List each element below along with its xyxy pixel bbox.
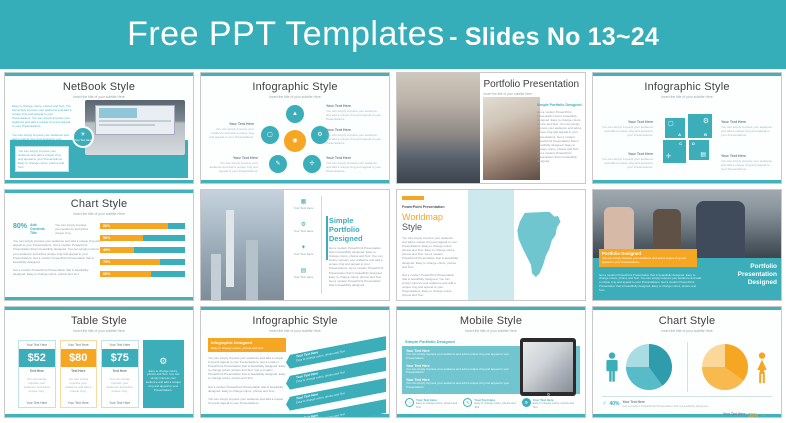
book-icon: ▢: [267, 132, 273, 138]
legend-percent-0: 40%: [610, 401, 620, 407]
netbook-callout-text: You can simply impress your audience and…: [18, 149, 66, 169]
chart-body-2: Get a modern PowerPoint Presentation tha…: [13, 268, 101, 276]
slide-subtitle: Insert the title of your subtitle Here: [598, 329, 776, 334]
worldmap-body-2: Get a modern PowerPoint Presentation tha…: [402, 273, 458, 298]
arrows-body-1: You can simply impress your audience and…: [208, 356, 286, 381]
slide-title: Infographic Style: [206, 315, 384, 327]
mobile-footer-item-0[interactable]: ○ Your Text Here Easy to change colors, …: [405, 398, 460, 410]
worldmap-eyebrow: PowerPoint Presentation: [402, 205, 458, 209]
mobile-row-text-1: You can simply impress your audience and…: [406, 368, 527, 376]
slide-top-accent-bar: [593, 307, 781, 310]
slide-thumbnail-chart-bars[interactable]: Chart Style Insert the title of your sub…: [4, 189, 194, 301]
infographic-node-3[interactable]: ✎: [269, 155, 287, 173]
slide-title: Chart Style: [10, 198, 188, 210]
infographic-node-0[interactable]: ▲: [286, 105, 304, 123]
slide-subtitle: Insert the title of your subtitle Here: [598, 95, 776, 100]
tablet-device: [520, 338, 576, 396]
globe-icon: ◉: [292, 138, 297, 144]
mobile-footer-item-2[interactable]: ⚙ Your Text Here Easy to change colors, …: [522, 398, 577, 410]
slide-title: Portfolio Presentation: [483, 79, 582, 90]
slide-thumbnail-infographic-squares[interactable]: Infographic Style Insert the title of yo…: [592, 72, 782, 184]
slide-thumbnail-infographic-arrows[interactable]: Infographic Style Insert the title of yo…: [200, 306, 390, 418]
gear-icon: ⚙: [159, 356, 167, 367]
slide-title: Chart Style: [598, 315, 776, 327]
arrows-body-2: Get a modern PowerPoint Presentation tha…: [208, 385, 286, 393]
city-skyline-photo: [201, 190, 284, 300]
legend-percent-1: 35%: [748, 413, 758, 418]
portfolio-body: Get a modern PowerPoint Presentation tha…: [329, 246, 385, 287]
tile-letter-c: C: [679, 141, 682, 146]
slide-bottom-accent-bar: [5, 180, 193, 183]
pencil-icon: ✎: [466, 400, 469, 405]
feature-label-2: Your Text Here: [287, 252, 319, 256]
worldmap-title-line-2: Style: [402, 222, 458, 232]
page-title-sub: - Slides No 13~24: [449, 23, 659, 51]
gear-icon: ⚙: [524, 400, 528, 405]
worldmap-orange-tab: [402, 196, 424, 200]
bar-value-4: 60%: [100, 271, 151, 277]
slide-top-accent-bar: [201, 307, 389, 310]
infographic-tile-b[interactable]: ⚙ B: [688, 114, 712, 138]
pricing-feature-panel[interactable]: ⚙ Easy to change colors, photos and Text…: [143, 340, 185, 408]
bar-value-2: 40%: [100, 247, 134, 253]
slide-title: Infographic Style: [598, 81, 776, 93]
female-figure-icon: [754, 346, 770, 390]
portfolio-body: Get a modern PowerPoint Presentation tha…: [537, 110, 582, 163]
female-figure-icon: ♀: [761, 413, 766, 418]
puzzle-icon: ✢: [309, 161, 314, 167]
building-icon: ▦: [287, 198, 319, 205]
portfolio-section-heading: Simple Portfolio Designed: [537, 103, 582, 108]
slide-title: Table Style: [10, 315, 188, 327]
pricing-header-1: Your Text Here: [61, 341, 97, 349]
book-icon: ▢: [668, 120, 674, 127]
slide-subtitle: Insert the title of your subtitle Here: [10, 212, 188, 217]
chart-body-1: You can simply impress your audience and…: [13, 239, 101, 264]
infographic-tile-a[interactable]: ▢ A: [665, 118, 685, 138]
slide-top-accent-bar: [5, 307, 193, 310]
slide-bottom-accent-bar: [397, 414, 585, 417]
tile-letter-d: D: [692, 141, 695, 146]
slide-bottom-accent-bar: [201, 180, 389, 183]
netbook-badge[interactable]: ☀ Your Text Here: [72, 126, 94, 148]
pricing-sub-0: Text Here: [19, 367, 55, 375]
pricing-footer-0: Your Text Here: [19, 399, 55, 407]
bar-row-1: 50%: [100, 235, 185, 241]
heading-accent-bar: [326, 216, 328, 260]
arrow-label-0: Your Text Here: [286, 336, 386, 360]
square-text-3: You can simply impress your audience and…: [721, 159, 773, 171]
pricing-price-1: $80: [61, 349, 97, 367]
pricing-price-2: $75: [102, 349, 138, 367]
rocket-icon: ✦: [287, 244, 319, 251]
mobile-footer-text-1: Easy to change colors, photos and Text: [474, 402, 518, 410]
worldmap-body-1: You can simply impress your audience and…: [402, 236, 458, 269]
arrows-badge-sub: Easy to change colors, photos and Text: [211, 346, 283, 350]
pricing-header-0: Your Text Here: [19, 341, 55, 349]
slide-thumbnail-grid: NetBook Style Insert the title of your s…: [0, 69, 786, 423]
pricing-sub-1: Text Here: [61, 367, 97, 375]
feature-label-0: Your Text Here: [287, 206, 319, 210]
bar-value-3: 70%: [100, 259, 160, 265]
infographic-tile-d[interactable]: ▤ D: [689, 140, 709, 160]
puzzle-icon: ✢: [666, 153, 671, 160]
gear-icon: ⚙: [703, 117, 709, 125]
portfolio-heading-1: Presentation: [738, 271, 777, 279]
slide-thumbnail-worldmap-style[interactable]: PowerPoint Presentation Worldmap Style Y…: [396, 189, 586, 301]
slide-top-accent-bar: [5, 190, 193, 193]
infographic-center-node[interactable]: ◉: [284, 130, 306, 152]
arrows-badge-title: Infographic Designed: [211, 340, 283, 345]
slide-bottom-accent-bar: [5, 414, 193, 417]
portfolio-orange-badge: Portfolio Designed You can simply impres…: [599, 249, 697, 267]
tile-letter-b: B: [704, 132, 707, 137]
legend-text-0: Get a modern PowerPoint Presentation tha…: [623, 404, 766, 408]
vertical-divider: [321, 196, 322, 294]
pricing-body-2: You can simply impress your audience and…: [102, 375, 138, 399]
male-figure-icon: [604, 346, 620, 390]
pie-divider: [687, 342, 688, 392]
africa-map: [511, 208, 573, 282]
bar-value-0: 80%: [100, 223, 168, 229]
slide-title: NetBook Style: [10, 81, 188, 93]
pricing-body-0: You can simply impress your audience and…: [19, 375, 55, 399]
slide-top-accent-bar: [201, 73, 389, 76]
mobile-footer-text-2: Easy to change colors, photos and Text: [533, 402, 577, 410]
slide-bottom-accent-bar: [5, 297, 193, 300]
slide-thumbnail-netbook-style[interactable]: NetBook Style Insert the title of your s…: [4, 72, 194, 184]
netbook-body-1: Easy to change colors, photos and Text. …: [12, 104, 72, 129]
legend-row-1: Your Text Here Get a modern PowerPoint P…: [602, 412, 766, 418]
feature-label-1: Your Text Here: [287, 229, 319, 233]
pricing-card-2[interactable]: Your Text Here $75 Text Here You can sim…: [101, 340, 139, 408]
pricing-price-0: $52: [19, 349, 55, 367]
chart-side-note: You can simply impress your audience and…: [55, 223, 89, 235]
slide-top-accent-bar: [593, 73, 781, 76]
gear-icon: ⚙: [287, 221, 319, 228]
slide-thumbnail-infographic-circles[interactable]: Infographic Style Insert the title of yo…: [200, 72, 390, 184]
gear-icon: ⚙: [317, 132, 322, 138]
slide-thumbnail-chart-pies[interactable]: Chart Style Insert the title of your sub…: [592, 306, 782, 418]
slide-subtitle: Insert the title of your subtitle Here: [402, 329, 580, 334]
page-title: Free PPT Templates - Slides No 13~24: [127, 15, 659, 54]
chart-side-heading: Add Contents Title: [30, 223, 52, 235]
infographic-text-2: You can simply impress your audience and…: [326, 161, 382, 173]
slide-thumbnail-simple-portfolio[interactable]: ▦ Your Text Here ⚙ Your Text Here ✦ Your…: [200, 189, 390, 301]
pricing-footer-2: Your Text Here: [102, 399, 138, 407]
circle-icon: ○: [408, 400, 410, 405]
pie-chart-left: [626, 344, 672, 390]
page-title-main: Free PPT Templates: [127, 15, 445, 53]
infographic-node-2[interactable]: ✢: [303, 155, 321, 173]
worldmap-title-line-1: Worldmap: [402, 212, 458, 222]
portfolio-body: Get a modern PowerPoint Presentation tha…: [599, 274, 702, 293]
legend-divider: [602, 396, 772, 397]
portfolio-badge-text: You can simply impress your audience and…: [602, 257, 694, 265]
infographic-text-0: You can simply impress your audience and…: [326, 109, 382, 121]
mobile-row-text-2: You can simply impress your audience and…: [406, 382, 527, 390]
mobile-row-text-0: You can simply impress your audience and…: [406, 353, 527, 361]
slide-thumbnail-mobile-style[interactable]: Mobile Style Insert the title of your su…: [396, 306, 586, 418]
slide-top-accent-bar: [5, 73, 193, 76]
award-icon: ▲: [292, 111, 298, 117]
pricing-body-1: You can simply impress your audience and…: [61, 375, 97, 399]
slide-subtitle: Insert the title of your subtitle Here: [10, 329, 188, 334]
slide-bottom-accent-bar: [593, 180, 781, 183]
square-text-0: You can simply impress your audience and…: [601, 125, 653, 137]
portfolio-heading-2: Designed: [738, 279, 777, 287]
slide-thumbnail-portfolio-designed[interactable]: Portfolio Designed You can simply impres…: [592, 189, 782, 301]
tablet-laptop-photo: [523, 342, 573, 392]
bar-value-1: 50%: [100, 235, 143, 241]
arrows-body-3: You can simply impress your audience and…: [208, 397, 286, 405]
pencil-icon: ✎: [275, 161, 280, 167]
portfolio-heading-line-2: Designed: [329, 234, 385, 243]
slide-title: Infographic Style: [206, 81, 384, 93]
bar-chart: 80% 50% 40% 70% 60%: [100, 223, 185, 277]
pie-chart-right: [702, 344, 748, 390]
mobile-section-heading: Simple Portfolio Designed: [405, 339, 455, 344]
mobile-footer-item-1[interactable]: ✎ Your Text Here Easy to change colors, …: [463, 398, 518, 410]
slide-thumbnail-table-style[interactable]: Table Style Insert the title of your sub…: [4, 306, 194, 418]
bar-row-2: 40%: [100, 247, 185, 253]
portfolio-heading-0: Portfolio: [738, 263, 777, 271]
slide-thumbnail-portfolio-presentation[interactable]: Portfolio Presentation Insert the title …: [396, 72, 586, 184]
chart-icon: ▤: [287, 267, 319, 274]
globe-icon: ☀: [80, 132, 85, 138]
worldmap-accent-panel: [468, 190, 513, 300]
infographic-text-3: You can simply impress your audience and…: [208, 161, 258, 173]
pricing-sub-2: Text Here: [102, 367, 138, 375]
infographic-node-4[interactable]: ▢: [261, 126, 279, 144]
mobile-footer-text-0: Easy to change colors, photos and Text: [416, 402, 460, 410]
slide-subtitle: Insert the title of your subtitle Here: [206, 95, 384, 100]
square-text-1: You can simply impress your audience and…: [721, 125, 773, 137]
bar-row-3: 70%: [100, 259, 185, 265]
pricing-panel-text: Easy to change colors, photos and Text. …: [146, 370, 182, 393]
infographic-text-1: You can simply impress your audience and…: [326, 133, 382, 145]
male-figure-icon: ♂: [602, 401, 607, 407]
bar-row-0: 80%: [100, 223, 185, 229]
netbook-laptop-photo: [85, 100, 185, 155]
pricing-card-1[interactable]: Your Text Here $80 Text Here You can sim…: [60, 340, 98, 408]
legend-text-1: Get a modern PowerPoint Presentation tha…: [602, 416, 745, 418]
netbook-callout-box: You can simply impress your audience and…: [15, 146, 69, 172]
chart-icon: ▤: [700, 151, 706, 158]
office-team-photo: [593, 190, 781, 258]
man-reading-photo: [397, 73, 480, 183]
slide-title: Mobile Style: [402, 315, 580, 327]
pricing-header-2: Your Text Here: [102, 341, 138, 349]
slide-top-accent-bar: [397, 307, 585, 310]
chart-big-percent: 80%: [13, 223, 27, 230]
square-text-2: You can simply impress your audience and…: [601, 157, 653, 169]
tablet-home-button: [547, 393, 550, 396]
pricing-footer-1: Your Text Here: [61, 399, 97, 407]
legend-row-0: ♂ 40% Your Text Here Get a modern PowerP…: [602, 400, 766, 408]
arrows-orange-badge: Infographic Designed Easy to change colo…: [208, 338, 286, 352]
bar-row-4: 60%: [100, 271, 185, 277]
tile-letter-a: A: [678, 132, 681, 137]
page-header: Free PPT Templates - Slides No 13~24: [0, 0, 786, 69]
slide-subtitle: Insert the title of your subtitle Here: [206, 329, 384, 334]
slide-subtitle: Insert the title of your subtitle Here: [483, 92, 582, 96]
infographic-text-4: You can simply impress your audience and…: [208, 127, 254, 139]
feature-label-3: Your Text Here: [287, 275, 319, 279]
woman-with-coffee-photo: [483, 97, 539, 180]
infographic-tile-c[interactable]: ✢ C: [663, 140, 686, 163]
portfolio-heading-line-1: Simple Portfolio: [329, 216, 385, 234]
netbook-badge-label: Your Text Here: [74, 139, 91, 142]
pricing-card-0[interactable]: Your Text Here $52 Text Here You can sim…: [18, 340, 56, 408]
